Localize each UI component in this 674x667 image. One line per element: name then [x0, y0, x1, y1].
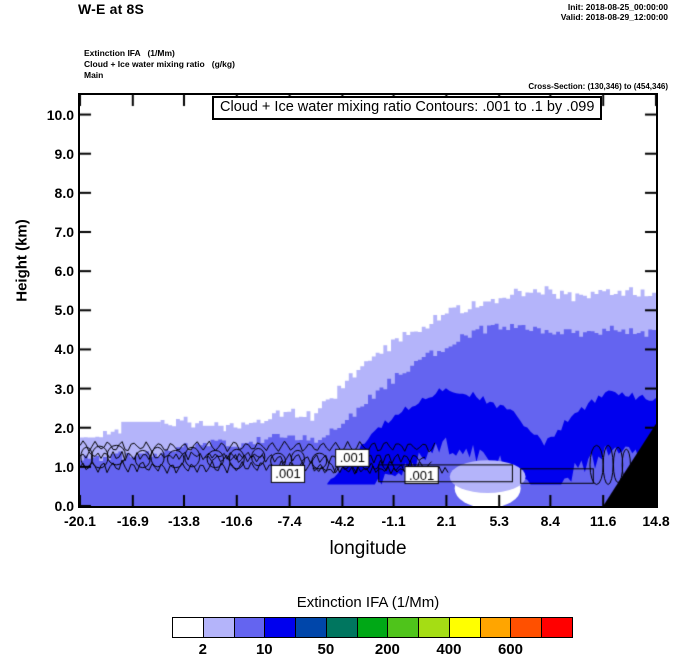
colorbar-cell: [357, 617, 389, 638]
x-tick-label: 2.1: [416, 514, 476, 528]
colorbar-tick-label: 600: [480, 642, 540, 658]
colorbar-cell: [387, 617, 419, 638]
colorbar-cell: [203, 617, 235, 638]
contour-title-text: Cloud + Ice water mixing ratio Contours:…: [220, 99, 594, 115]
colorbar-cell: [480, 617, 512, 638]
colorbar: [172, 617, 572, 638]
x-tick-label: -13.8: [154, 514, 214, 528]
x-tick-label: -10.6: [207, 514, 267, 528]
y-axis-title: Height (km): [14, 201, 31, 321]
x-axis-title: longitude: [78, 538, 658, 560]
y-tick-label: 10.0: [12, 108, 74, 122]
colorbar-cell: [264, 617, 296, 638]
colorbar-tick-label: 400: [419, 642, 479, 658]
colorbar-tick-label: 10: [234, 642, 294, 658]
init-time-label: Init: 2018-08-25_00:00:00: [568, 2, 668, 12]
y-tick-label: 3.0: [12, 382, 74, 396]
contour-title-box: Cloud + Ice water mixing ratio Contours:…: [212, 96, 602, 120]
x-axis-ticks: -20.1-16.9-13.8-10.6-7.4-4.2-1.12.15.38.…: [78, 514, 658, 534]
field-description-block: Extinction IFA (1/Mm) Cloud + Ice water …: [84, 48, 235, 81]
colorbar-cell: [326, 617, 358, 638]
page-title: W-E at 8S: [78, 1, 144, 17]
y-tick-label: 8.0: [12, 186, 74, 200]
x-tick-label: 8.4: [520, 514, 580, 528]
colorbar-tick-label: 200: [357, 642, 417, 658]
colorbar-cell: [172, 617, 204, 638]
colorbar-labels: 21050200400600: [172, 642, 572, 662]
x-tick-label: -1.1: [364, 514, 424, 528]
valid-time-label: Valid: 2018-08-29_12:00:00: [561, 12, 668, 22]
x-tick-label: -20.1: [50, 514, 110, 528]
y-tick-label: 2.0: [12, 421, 74, 435]
colorbar-cell: [510, 617, 542, 638]
y-tick-label: 4.0: [12, 342, 74, 356]
x-tick-label: 14.8: [626, 514, 674, 528]
colorbar-cell: [295, 617, 327, 638]
colorbar-cell: [449, 617, 481, 638]
cross-section-coords-label: Cross-Section: (130,346) to (454,346): [528, 82, 668, 91]
y-tick-label: 1.0: [12, 460, 74, 474]
cross-section-plot: [78, 93, 658, 508]
colorbar-cell: [541, 617, 573, 638]
colorbar-title: Extinction IFA (1/Mm): [78, 594, 658, 611]
x-tick-label: 11.6: [573, 514, 633, 528]
colorbar-cell: [234, 617, 266, 638]
x-tick-label: -7.4: [260, 514, 320, 528]
colorbar-tick-label: 50: [296, 642, 356, 658]
colorbar-tick-label: 2: [173, 642, 233, 658]
contour-fill-canvas: [80, 95, 656, 506]
y-tick-label: 9.0: [12, 147, 74, 161]
y-tick-label: 0.0: [12, 499, 74, 513]
colorbar-cell: [418, 617, 450, 638]
